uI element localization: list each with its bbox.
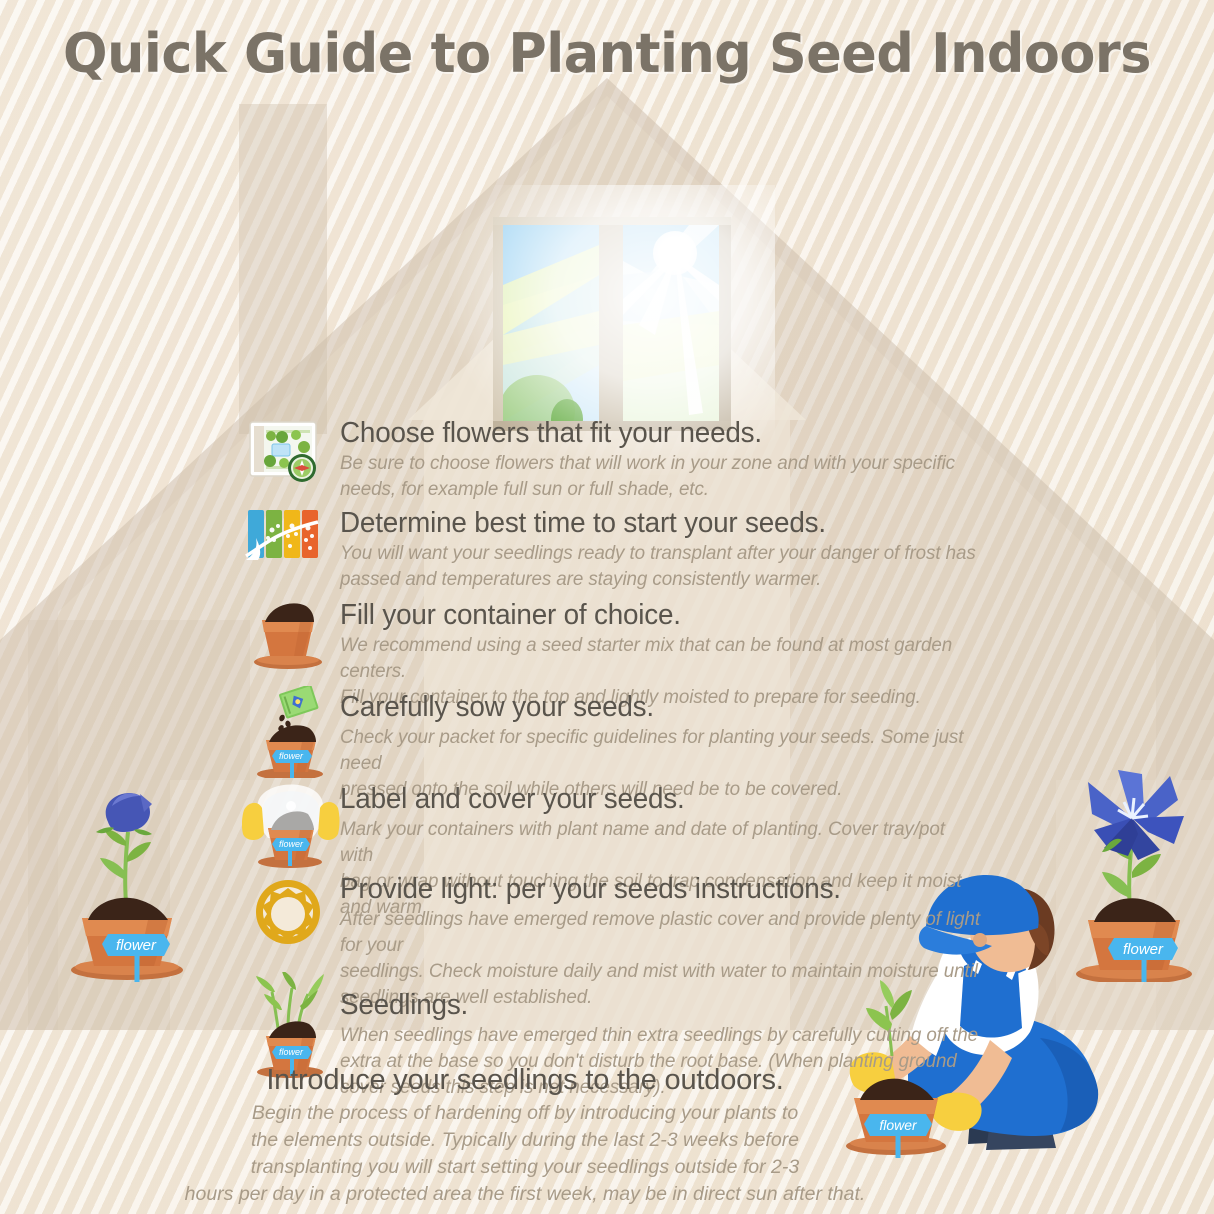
footer-heading: Introduce your seedlings to the outdoors… xyxy=(110,1062,940,1098)
step-body-line: Mark your containers with plant name and… xyxy=(340,816,981,868)
potted-flower-bud: flower xyxy=(52,770,202,985)
step-body-line: You will want your seedlings ready to tr… xyxy=(340,540,981,566)
step-heading: Label and cover your seeds. xyxy=(340,782,977,816)
leaf-left xyxy=(100,858,126,880)
step-body-line: passed and temperatures are staying cons… xyxy=(340,566,981,592)
window-frame-left xyxy=(493,217,503,431)
step-heading: Carefully sow your seeds. xyxy=(340,690,977,724)
step-item-6: Provide light: per your seeds instructio… xyxy=(244,872,1004,988)
tag-label-text: flower xyxy=(116,937,157,954)
sun-light-icon xyxy=(248,874,340,966)
step-body-line: We recommend using a seed starter mix th… xyxy=(340,632,981,684)
flower-bloom xyxy=(1088,770,1184,860)
four-seasons-icon xyxy=(244,508,336,600)
step-body-line: After seedlings have emerged remove plas… xyxy=(340,906,981,958)
step-heading: Choose flowers that fit your needs. xyxy=(340,416,977,450)
svg-text:flower: flower xyxy=(279,839,304,849)
step-item-5: flower Label and cover your seeds. Mark … xyxy=(244,782,1004,872)
step-body-line: Check your packet for specific guideline… xyxy=(340,724,981,776)
window-frame-top xyxy=(493,217,731,225)
window-frame-right xyxy=(719,217,731,431)
footer-body-line: Begin the process of hardening off by in… xyxy=(110,1100,940,1127)
step-item-2: Determine best time to start your seeds.… xyxy=(244,506,1004,598)
step-body-line: needs, for example full sun or full shad… xyxy=(340,476,981,502)
seed-packet-pot-icon: flower xyxy=(248,686,340,778)
footer-step: Introduce your seedlings to the outdoors… xyxy=(110,1062,940,1208)
step-item-4: flower Carefully sow your seeds. Check y… xyxy=(244,690,1004,782)
svg-text:flower: flower xyxy=(279,1047,304,1057)
step-item-3: Fill your container of choice. We recomm… xyxy=(244,598,1004,690)
footer-body-line: hours per day in a protected area the fi… xyxy=(10,1181,1040,1208)
covered-pot-gloves-icon: flower xyxy=(242,776,342,868)
step-heading: Fill your container of choice. xyxy=(340,598,977,632)
soil xyxy=(88,898,168,920)
window-mullion xyxy=(599,217,623,431)
filled-pot-icon xyxy=(248,596,340,688)
step-body-line: Be sure to choose flowers that will work… xyxy=(340,450,981,476)
footer-body-line: transplanting you will start setting you… xyxy=(110,1154,940,1181)
leaf-right xyxy=(127,842,151,862)
window-pane-left xyxy=(499,225,599,437)
footer-body-line: the elements outside. Typically during t… xyxy=(110,1127,940,1154)
step-heading: Provide light: per your seeds instructio… xyxy=(340,872,977,906)
step-heading: Seedlings. xyxy=(340,988,977,1022)
step-item-1: Choose flowers that fit your needs. Be s… xyxy=(244,416,1004,506)
leaf-right xyxy=(1132,854,1161,878)
step-body-line: seedlings. Check moisture daily and mist… xyxy=(340,958,981,984)
infographic-poster: Quick Guide to Planting Seed Indoors xyxy=(0,0,1214,1214)
window-pane-right xyxy=(623,225,719,421)
step-body-line: When seedlings have emerged thin extra s… xyxy=(340,1022,981,1048)
steps-list: Choose flowers that fit your needs. Be s… xyxy=(244,416,1004,1108)
garden-plan-map-icon xyxy=(244,416,336,508)
sun-icon xyxy=(653,231,697,275)
svg-text:flower: flower xyxy=(279,751,304,761)
sepal-right xyxy=(134,829,152,835)
sunny-window xyxy=(489,215,735,437)
page-title: Quick Guide to Planting Seed Indoors xyxy=(18,22,1196,85)
step-heading: Determine best time to start your seeds. xyxy=(340,506,977,540)
